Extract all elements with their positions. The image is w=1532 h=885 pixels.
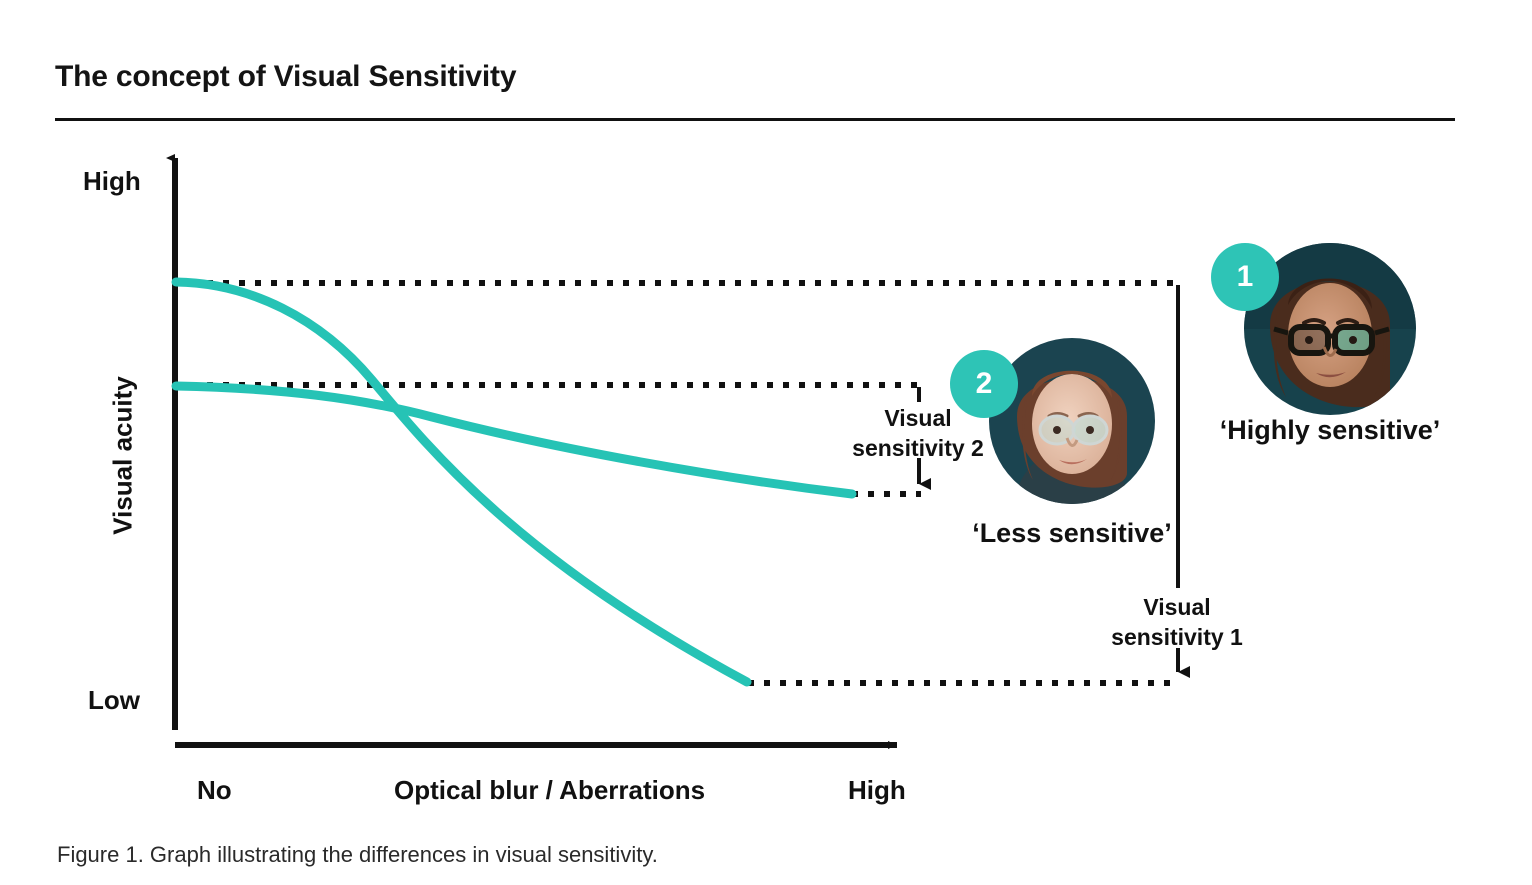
annotation-vs1-line1: Visual: [1057, 592, 1297, 622]
figure-caption: Figure 1. Graph illustrating the differe…: [57, 842, 658, 868]
x-axis-no-label: No: [197, 775, 232, 806]
portrait-less-sensitive: [989, 338, 1155, 504]
annotation-visual-sensitivity-1: Visual sensitivity 1: [1057, 592, 1297, 653]
y-axis-title: Visual acuity: [108, 326, 139, 586]
portrait-2-image: [989, 338, 1155, 504]
portrait-caption-highly-sensitive: ‘Highly sensitive’: [1175, 415, 1485, 446]
annotation-vs1-line2: sensitivity 1: [1057, 622, 1297, 652]
x-axis-high-label: High: [848, 775, 906, 806]
curve-less-sensitive: [176, 386, 852, 494]
chart-area: High Low Visual acuity No Optical blur /…: [0, 0, 1532, 885]
badge-1: 1: [1211, 243, 1279, 311]
y-axis-low-label: Low: [88, 685, 140, 716]
y-axis-high-label: High: [83, 166, 141, 197]
curve-highly-sensitive: [176, 282, 747, 682]
x-axis-title: Optical blur / Aberrations: [394, 775, 705, 806]
badge-2: 2: [950, 350, 1018, 418]
portrait-caption-less-sensitive: ‘Less sensitive’: [925, 518, 1219, 549]
